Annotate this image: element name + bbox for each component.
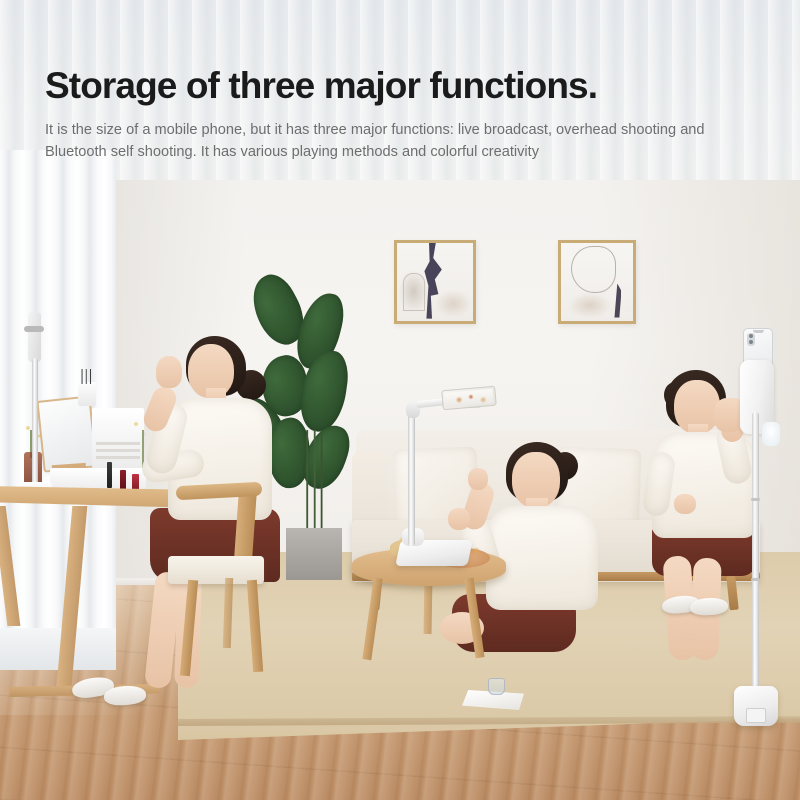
mounted-phone <box>441 386 497 411</box>
overhead-shooting-stand[interactable] <box>398 388 518 568</box>
pole-joint <box>751 578 760 581</box>
plant-stems <box>300 430 330 538</box>
left-hand <box>674 494 696 514</box>
headline-block: Storage of three major functions. It is … <box>45 66 757 163</box>
phone-screen <box>444 389 493 407</box>
makeup-brush-cup <box>78 382 96 406</box>
stand-pole <box>32 358 38 490</box>
concrete-planter <box>286 528 342 580</box>
page-title: Storage of three major functions. <box>45 66 757 106</box>
drinking-glass <box>488 678 505 695</box>
tripod-base <box>734 686 778 726</box>
lipstick <box>132 474 139 491</box>
raised-hand <box>156 356 182 388</box>
abstract-artwork-right <box>558 240 636 324</box>
product-banner: Storage of three major functions. It is … <box>0 0 800 800</box>
phone-notch <box>753 330 764 333</box>
lipstick <box>107 462 112 488</box>
phone-camera <box>747 333 755 346</box>
tall-tripod-selfie-stick[interactable] <box>726 326 792 732</box>
desktop-phone-stand[interactable] <box>18 306 58 502</box>
pole-joint <box>751 498 760 501</box>
artwork-canvas <box>397 243 473 321</box>
abstract-artwork-left <box>394 240 476 324</box>
lipstick <box>120 470 126 490</box>
clamp-head <box>28 312 41 362</box>
stand-pole <box>408 414 415 546</box>
artwork-canvas <box>561 243 633 321</box>
telescoping-pole <box>752 412 759 712</box>
fill-light <box>762 422 780 446</box>
page-description: It is the size of a mobile phone, but it… <box>45 119 735 163</box>
